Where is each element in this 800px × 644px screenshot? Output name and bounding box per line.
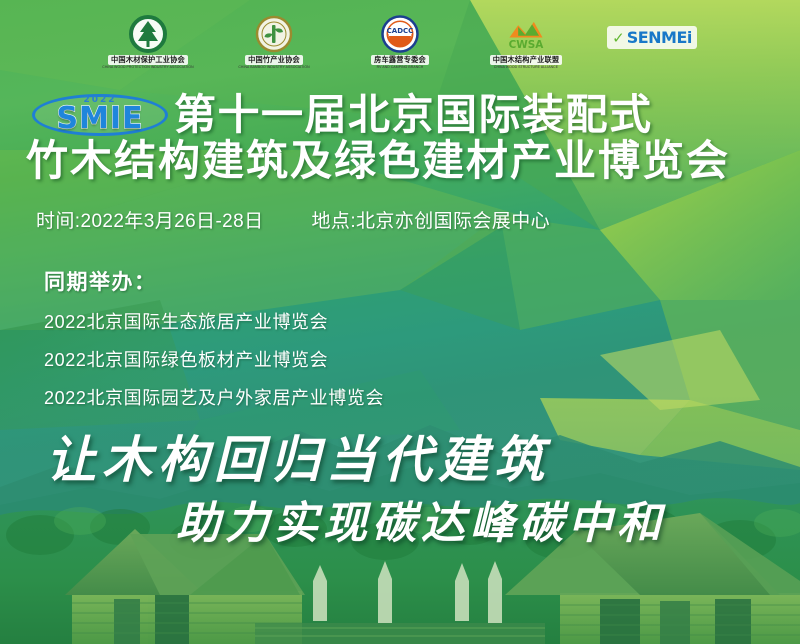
tree-shield-icon xyxy=(128,14,168,54)
cadcc-badge-icon: CADCC xyxy=(380,14,420,54)
logo-cadcc: CADCC 房车露营专委会 RV AND CAMPING BRANCH xyxy=(348,14,452,69)
senmei-wordmark: ✓ SENMEi xyxy=(607,26,697,49)
logo-cwsa: CWSA 中国木结构产业联盟 CHINA WOOD STRUCTURE ALLI… xyxy=(474,14,578,69)
logo-caption: 中国木材保护工业协会 xyxy=(108,55,188,65)
house-roof-icon: CWSA xyxy=(506,14,546,54)
logo-cwpia: 中国木材保护工业协会 CHINA WOOD PROTECTION INDUSTR… xyxy=(96,14,200,69)
logo-subcaption: RV AND CAMPING BRANCH xyxy=(377,65,424,69)
event-info: 时间:2022年3月26日-28日 地点:北京亦创国际会展中心 xyxy=(36,206,550,233)
logo-caption: 房车露营专委会 xyxy=(371,55,429,65)
svg-text:CADCC: CADCC xyxy=(387,27,414,35)
concurrent-event-item: 2022北京国际绿色板材产业博览会 xyxy=(44,346,384,372)
exhibition-poster: 中国木材保护工业协会 CHINA WOOD PROTECTION INDUSTR… xyxy=(0,0,800,644)
logo-subcaption: CHINA BAMBOO INDUSTRY ASSOCIATION xyxy=(238,65,309,69)
logo-bamboo: 中国竹产业协会 CHINA BAMBOO INDUSTRY ASSOCIATIO… xyxy=(222,14,326,69)
concurrent-events-block: 同期举办： 2022北京国际生态旅居产业博览会 2022北京国际绿色板材产业博览… xyxy=(44,266,384,422)
page-title-line2: 竹木结构建筑及绿色建材产业博览会 xyxy=(26,140,730,182)
concurrent-events-heading: 同期举办： xyxy=(44,266,384,296)
smie-wordmark: SMIE xyxy=(32,101,168,136)
logo-senmei: ✓ SENMEi xyxy=(600,14,704,49)
event-venue: 地点:北京亦创国际会展中心 xyxy=(312,206,550,233)
logo-subcaption: CHINA WOOD PROTECTION INDUSTRY ASSOCIATI… xyxy=(102,65,193,69)
logo-caption: 中国竹产业协会 xyxy=(245,55,303,65)
concurrent-event-item: 2022北京国际生态旅居产业博览会 xyxy=(44,308,384,334)
logo-subcaption: CHINA WOOD STRUCTURE ALLIANCE xyxy=(494,65,558,69)
smie-logo: 2022 SMIE xyxy=(32,92,168,138)
logo-caption: 中国木结构产业联盟 xyxy=(490,55,563,65)
concurrent-event-item: 2022北京国际园艺及户外家居产业博览会 xyxy=(44,384,384,410)
association-logo-bar: 中国木材保护工业协会 CHINA WOOD PROTECTION INDUSTR… xyxy=(0,14,800,76)
slogan-line1: 让木构回归当代建筑 xyxy=(46,420,550,492)
slogan-line2: 助力实现碳达峰碳中和 xyxy=(176,487,666,551)
bamboo-seal-icon xyxy=(254,14,294,54)
page-title-line1: 第十一届北京国际装配式 xyxy=(174,94,653,136)
title-row: 2022 SMIE 第十一届北京国际装配式 xyxy=(32,92,653,138)
leaf-sprout-icon: ✓ xyxy=(612,29,625,47)
senmei-text: SENMEi xyxy=(627,28,692,47)
svg-text:CWSA: CWSA xyxy=(509,39,545,51)
event-date: 时间:2022年3月26日-28日 xyxy=(36,206,264,233)
